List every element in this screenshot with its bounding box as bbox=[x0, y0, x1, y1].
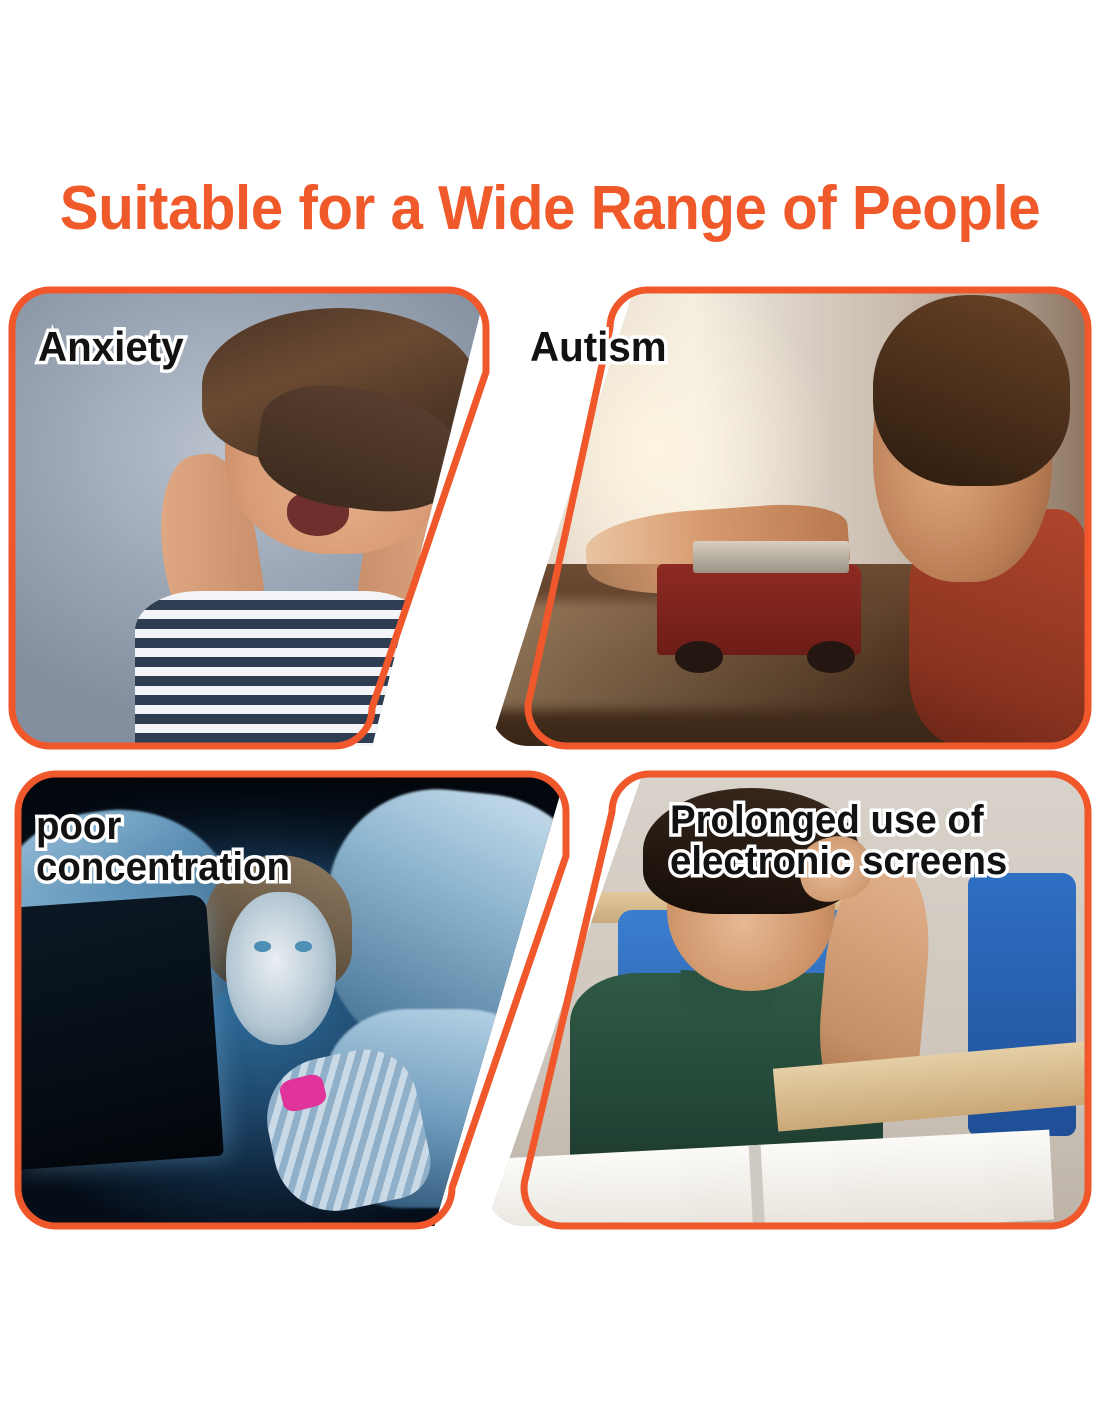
autism-toy-truck-ladder bbox=[693, 541, 848, 573]
caption-poor-concentration: poor concentration bbox=[36, 806, 290, 888]
concentration-tablet bbox=[18, 894, 224, 1170]
concentration-eye-left bbox=[254, 941, 272, 952]
caption-anxiety: Anxiety bbox=[38, 326, 184, 369]
autism-toy-wheel-front bbox=[675, 641, 723, 673]
caption-autism: Autism bbox=[530, 326, 667, 369]
panel-grid bbox=[0, 276, 1100, 1236]
page-title: Suitable for a Wide Range of People bbox=[33, 178, 1067, 240]
caption-prolonged-screen-use: Prolonged use of electronic screens bbox=[670, 800, 1007, 882]
anxiety-striped-shirt bbox=[135, 591, 429, 746]
concentration-face bbox=[226, 892, 336, 1046]
autism-hair bbox=[873, 295, 1070, 487]
autism-toy-wheel-rear bbox=[807, 641, 855, 673]
